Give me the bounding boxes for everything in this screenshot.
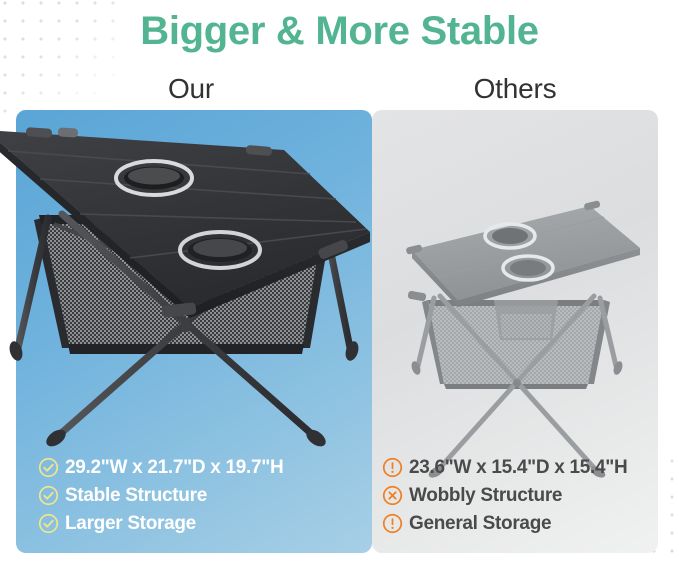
list-item: 23.6"W x 15.4"D x 15.4"H — [382, 455, 627, 479]
x-circle-icon — [382, 485, 403, 506]
list-item: 29.2"W x 21.7"D x 19.7"H — [38, 455, 283, 479]
column-heading-others: Others — [420, 72, 610, 106]
list-item-label: Larger Storage — [65, 513, 196, 534]
list-item-label: 23.6"W x 15.4"D x 15.4"H — [409, 457, 627, 478]
check-circle-icon — [38, 513, 59, 534]
list-item: Wobbly Structure — [382, 483, 627, 507]
list-item-label: 29.2"W x 21.7"D x 19.7"H — [65, 457, 283, 478]
list-item-label: Wobbly Structure — [409, 485, 562, 506]
list-item: Stable Structure — [38, 483, 283, 507]
exclamation-circle-icon — [382, 513, 403, 534]
comparison-panel-others: 23.6"W x 15.4"D x 15.4"H Wobbly Structur… — [372, 110, 658, 553]
list-item: Larger Storage — [38, 511, 283, 535]
check-circle-icon — [38, 457, 59, 478]
list-item: General Storage — [382, 511, 627, 535]
list-item-label: Stable Structure — [65, 485, 207, 506]
ours-table-illustration — [0, 18, 374, 448]
list-item-label: General Storage — [409, 513, 551, 534]
infographic-canvas: Bigger & More Stable Our Others — [0, 0, 679, 566]
others-feature-list: 23.6"W x 15.4"D x 15.4"H Wobbly Structur… — [382, 455, 627, 539]
exclamation-circle-icon — [382, 457, 403, 478]
ours-feature-list: 29.2"W x 21.7"D x 19.7"H Stable Structur… — [38, 455, 283, 539]
check-circle-icon — [38, 485, 59, 506]
